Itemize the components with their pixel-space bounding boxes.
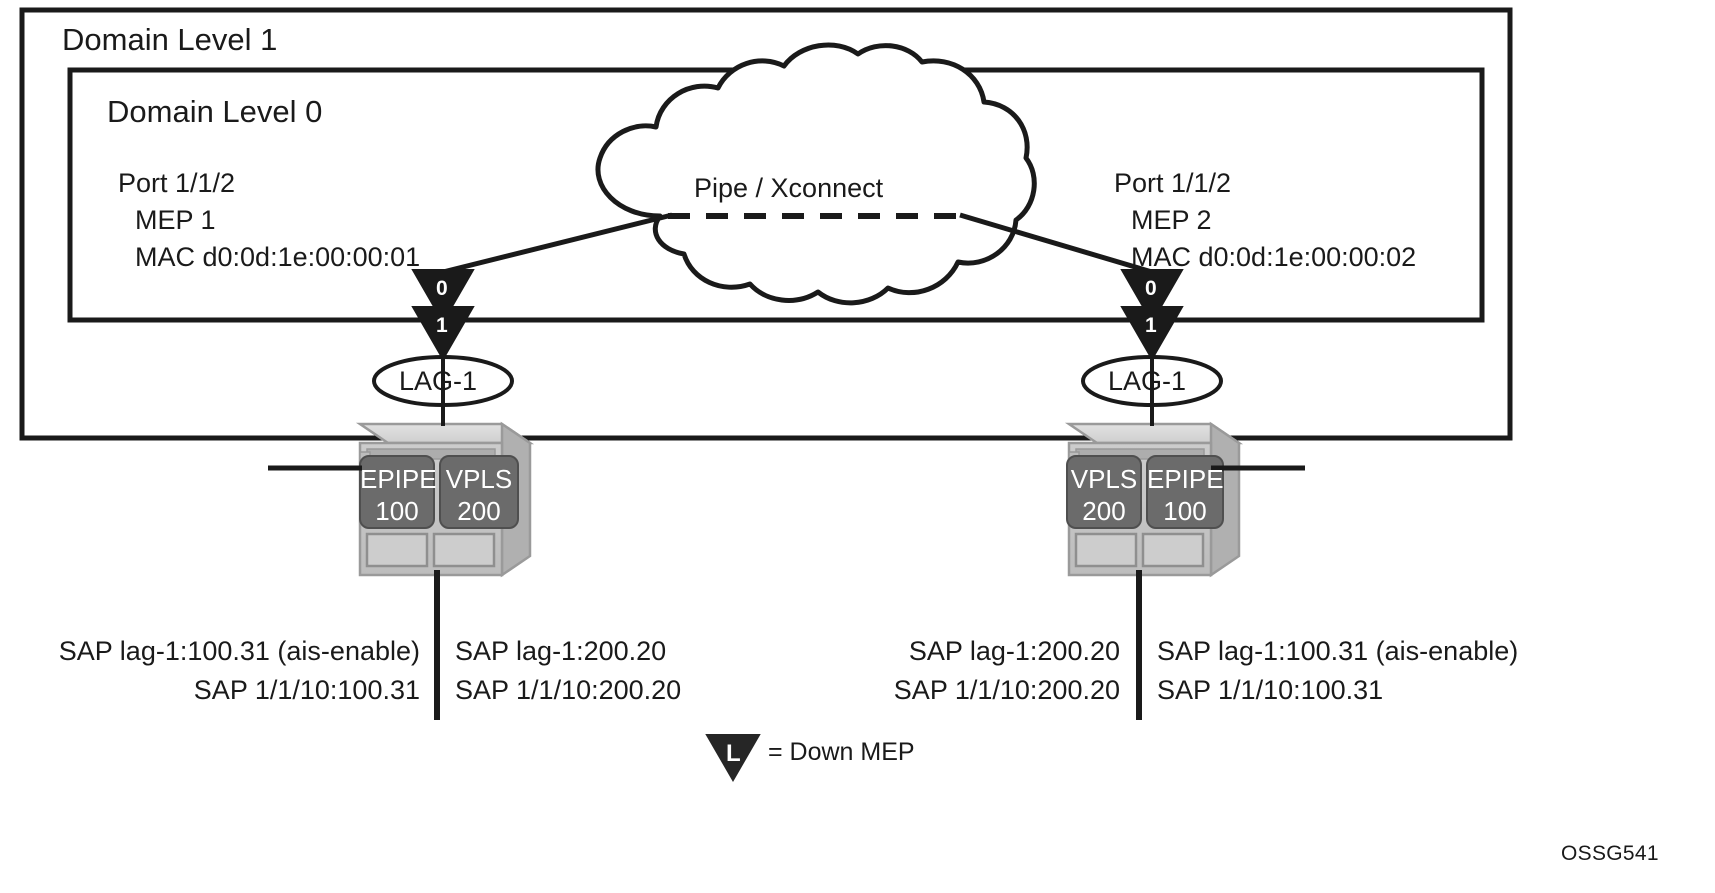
right-mep-label: MEP 2	[1131, 207, 1212, 234]
right-service-0-id: 200	[1067, 496, 1141, 527]
left-node-sap-left-line-0: SAP lag-1:100.31 (ais-enable)	[0, 638, 420, 665]
left-mep-level0-number: 0	[436, 277, 448, 301]
legend-marker-letter: L	[726, 740, 741, 768]
right-service-1-id: 100	[1147, 496, 1223, 527]
left-service-1-name: VPLS	[440, 464, 518, 495]
left-port-label: Port 1/1/2	[118, 170, 235, 197]
left-node-sap-right-line-0: SAP lag-1:200.20	[455, 638, 666, 665]
right-node-sap-left-line-0: SAP lag-1:200.20	[820, 638, 1120, 665]
right-lag-label: LAG-1	[1108, 368, 1186, 395]
left-service-0-name: EPIPE	[360, 464, 434, 495]
cloud-label: Pipe / Xconnect	[694, 175, 883, 202]
left-mep-level1-number: 1	[436, 314, 448, 338]
right-node-sap-right-line-1: SAP 1/1/10:100.31	[1157, 677, 1383, 704]
left-mep-label: MEP 1	[135, 207, 216, 234]
diagram-canvas: Domain Level 1 Domain Level 0 Port 1/1/2…	[0, 0, 1715, 893]
domain-level-1-label: Domain Level 1	[62, 24, 277, 55]
left-node-sap-left-line-1: SAP 1/1/10:100.31	[0, 677, 420, 704]
right-port-label: Port 1/1/2	[1114, 170, 1231, 197]
left-link-line	[443, 215, 672, 272]
left-mac-label: MAC d0:0d:1e:00:00:01	[135, 244, 420, 271]
right-node-sap-left-line-1: SAP 1/1/10:200.20	[820, 677, 1120, 704]
right-mac-label: MAC d0:0d:1e:00:00:02	[1131, 244, 1416, 271]
right-node-sap-right-line-0: SAP lag-1:100.31 (ais-enable)	[1157, 638, 1518, 665]
figure-id-label: OSSG541	[1561, 843, 1659, 864]
left-lag-label: LAG-1	[399, 368, 477, 395]
legend-text: = Down MEP	[768, 740, 915, 765]
left-service-1-id: 200	[440, 496, 518, 527]
left-service-0-id: 100	[360, 496, 434, 527]
domain-level-0-label: Domain Level 0	[107, 96, 322, 127]
right-service-1-name: EPIPE	[1147, 464, 1223, 495]
right-service-0-name: VPLS	[1067, 464, 1141, 495]
right-mep-level0-number: 0	[1145, 277, 1157, 301]
left-node-sap-right-line-1: SAP 1/1/10:200.20	[455, 677, 681, 704]
right-mep-level1-number: 1	[1145, 314, 1157, 338]
